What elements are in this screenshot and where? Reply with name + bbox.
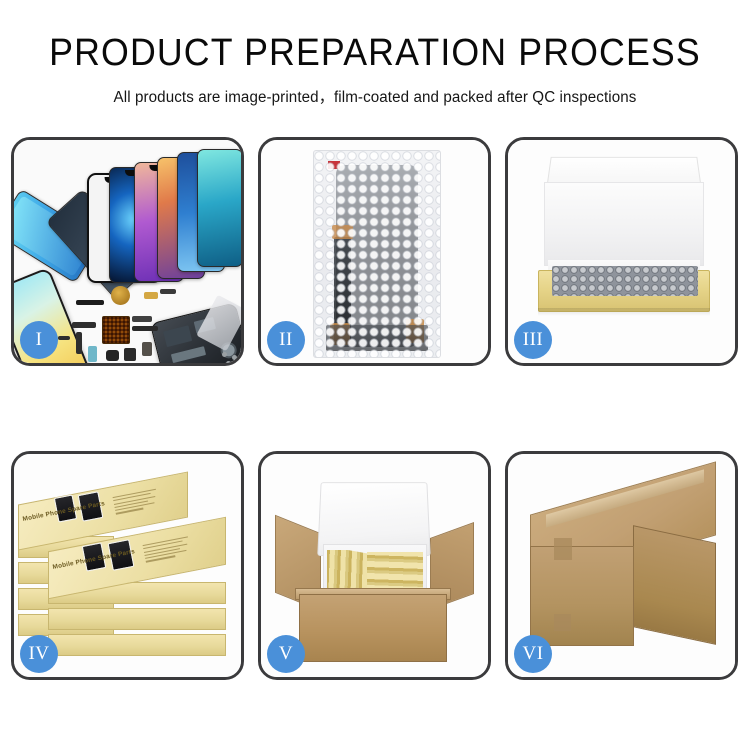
spare-part-icon [106,350,119,361]
spare-part-icon [88,346,97,362]
phone-screen-icon [197,149,241,267]
spare-part-icon [144,292,158,299]
spare-part-icon [142,342,152,356]
step-badge: IV [20,635,58,673]
process-step-4: Mobile Phone Spare Parts Mobile Phone Sp… [11,451,244,680]
process-step-1: I [11,137,244,366]
foam-liner-icon [544,182,704,266]
page-title: PRODUCT PREPARATION PROCESS [23,34,728,74]
carton-front-icon [530,546,634,646]
process-step-6: VI [505,451,738,680]
connector-grid-icon [102,316,130,344]
bubble-texture [314,151,440,357]
carton-body-icon [299,594,447,662]
bubble-wrap-icon [552,266,698,296]
process-step-5: V [258,451,491,680]
carton-tab-icon [554,614,571,631]
spare-part-icon [160,289,176,294]
step-badge: V [267,635,305,673]
spare-part-icon [76,300,104,305]
page-subtitle: All products are image-printed，film-coat… [6,85,745,107]
product-preparation-infographic: PRODUCT PREPARATION PROCESS All products… [0,0,750,750]
flex-cable-icon [132,326,158,331]
flex-cable-icon [132,316,152,322]
process-step-grid: I II [11,137,739,687]
step-badge: II [267,321,305,359]
carton-tab-icon [554,538,572,560]
step-badge: I [20,321,58,359]
screws-icon [222,352,241,363]
spare-part-icon [58,336,70,340]
carton-side-icon [633,525,716,645]
speaker-part-icon [111,286,130,305]
process-step-3: III [505,137,738,366]
spare-part-icon [124,348,136,361]
flex-cable-icon [76,332,82,354]
shadow [538,308,710,316]
step-badge: III [514,321,552,359]
header: PRODUCT PREPARATION PROCESS All products… [0,0,750,107]
step-badge: VI [514,635,552,673]
process-step-2: II [258,137,491,366]
bubble-wrap-bag-icon [313,150,441,358]
flex-cable-icon [72,322,96,328]
